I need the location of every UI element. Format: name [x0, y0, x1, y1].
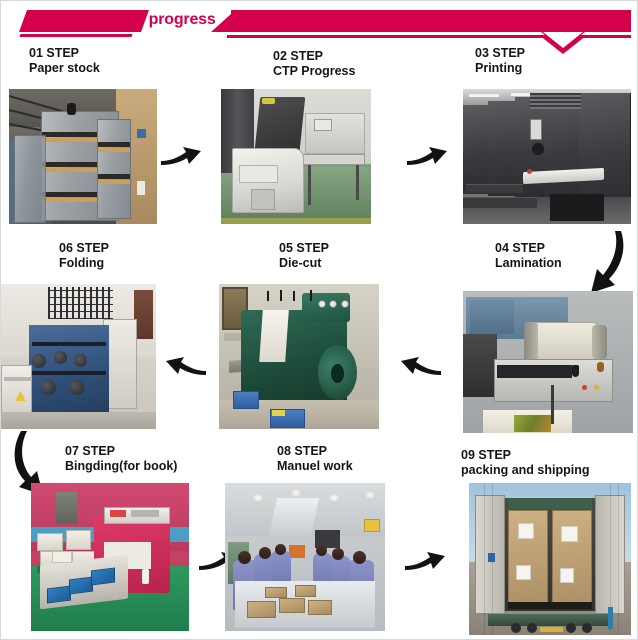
step-label-08: 08 STEP Manuel work [277, 444, 353, 474]
step-label-03: 03 STEP Printing [475, 46, 525, 76]
step-number-03: 03 STEP [475, 46, 525, 61]
step-photo-03 [463, 89, 631, 224]
step-photo-07 [31, 483, 189, 631]
step-number-07: 07 STEP [65, 444, 177, 459]
step-label-05: 05 STEP Die-cut [279, 241, 329, 271]
step-photo-09 [469, 483, 631, 635]
step-name-02: CTP Progress [273, 64, 355, 79]
production-progress-infographic: Production progress 01 STEP Paper stock … [0, 0, 638, 640]
step-photo-05 [219, 284, 379, 429]
page-title: Production progress [62, 11, 216, 29]
banner-right-block [231, 10, 631, 32]
step-number-05: 05 STEP [279, 241, 329, 256]
header-banner: Production progress [1, 1, 638, 45]
step-name-08: Manuel work [277, 459, 353, 474]
arrow-02-to-03-icon [405, 141, 449, 171]
step-name-07: Bingding(for book) [65, 459, 177, 474]
step-name-09: packing and shipping [461, 463, 589, 478]
banner-chevron-inner [543, 32, 583, 48]
arrow-04-to-05-icon [399, 351, 443, 381]
step-label-07: 07 STEP Bingding(for book) [65, 444, 177, 474]
step-name-03: Printing [475, 61, 525, 76]
banner-right-group [219, 10, 631, 41]
step-photo-08 [225, 483, 385, 631]
step-photo-01 [9, 89, 157, 224]
arrow-05-to-06-icon [164, 351, 208, 381]
arrow-01-to-02-icon [159, 141, 203, 171]
step-photo-04 [463, 291, 633, 433]
step-name-04: Lamination [495, 256, 562, 271]
step-name-06: Folding [59, 256, 109, 271]
step-photo-02 [221, 89, 371, 224]
step-name-05: Die-cut [279, 256, 329, 271]
step-number-06: 06 STEP [59, 241, 109, 256]
banner-left-underline [19, 34, 132, 37]
step-label-04: 04 STEP Lamination [495, 241, 562, 271]
step-number-04: 04 STEP [495, 241, 562, 256]
step-label-06: 06 STEP Folding [59, 241, 109, 271]
step-number-09: 09 STEP [461, 448, 589, 463]
step-number-08: 08 STEP [277, 444, 353, 459]
step-number-01: 01 STEP [29, 46, 100, 61]
step-label-02: 02 STEP CTP Progress [273, 49, 355, 79]
step-photo-06 [1, 284, 156, 429]
arrow-08-to-09-icon [403, 546, 447, 576]
step-label-01: 01 STEP Paper stock [29, 46, 100, 76]
step-number-02: 02 STEP [273, 49, 355, 64]
step-label-09: 09 STEP packing and shipping [461, 448, 589, 478]
step-name-01: Paper stock [29, 61, 100, 76]
